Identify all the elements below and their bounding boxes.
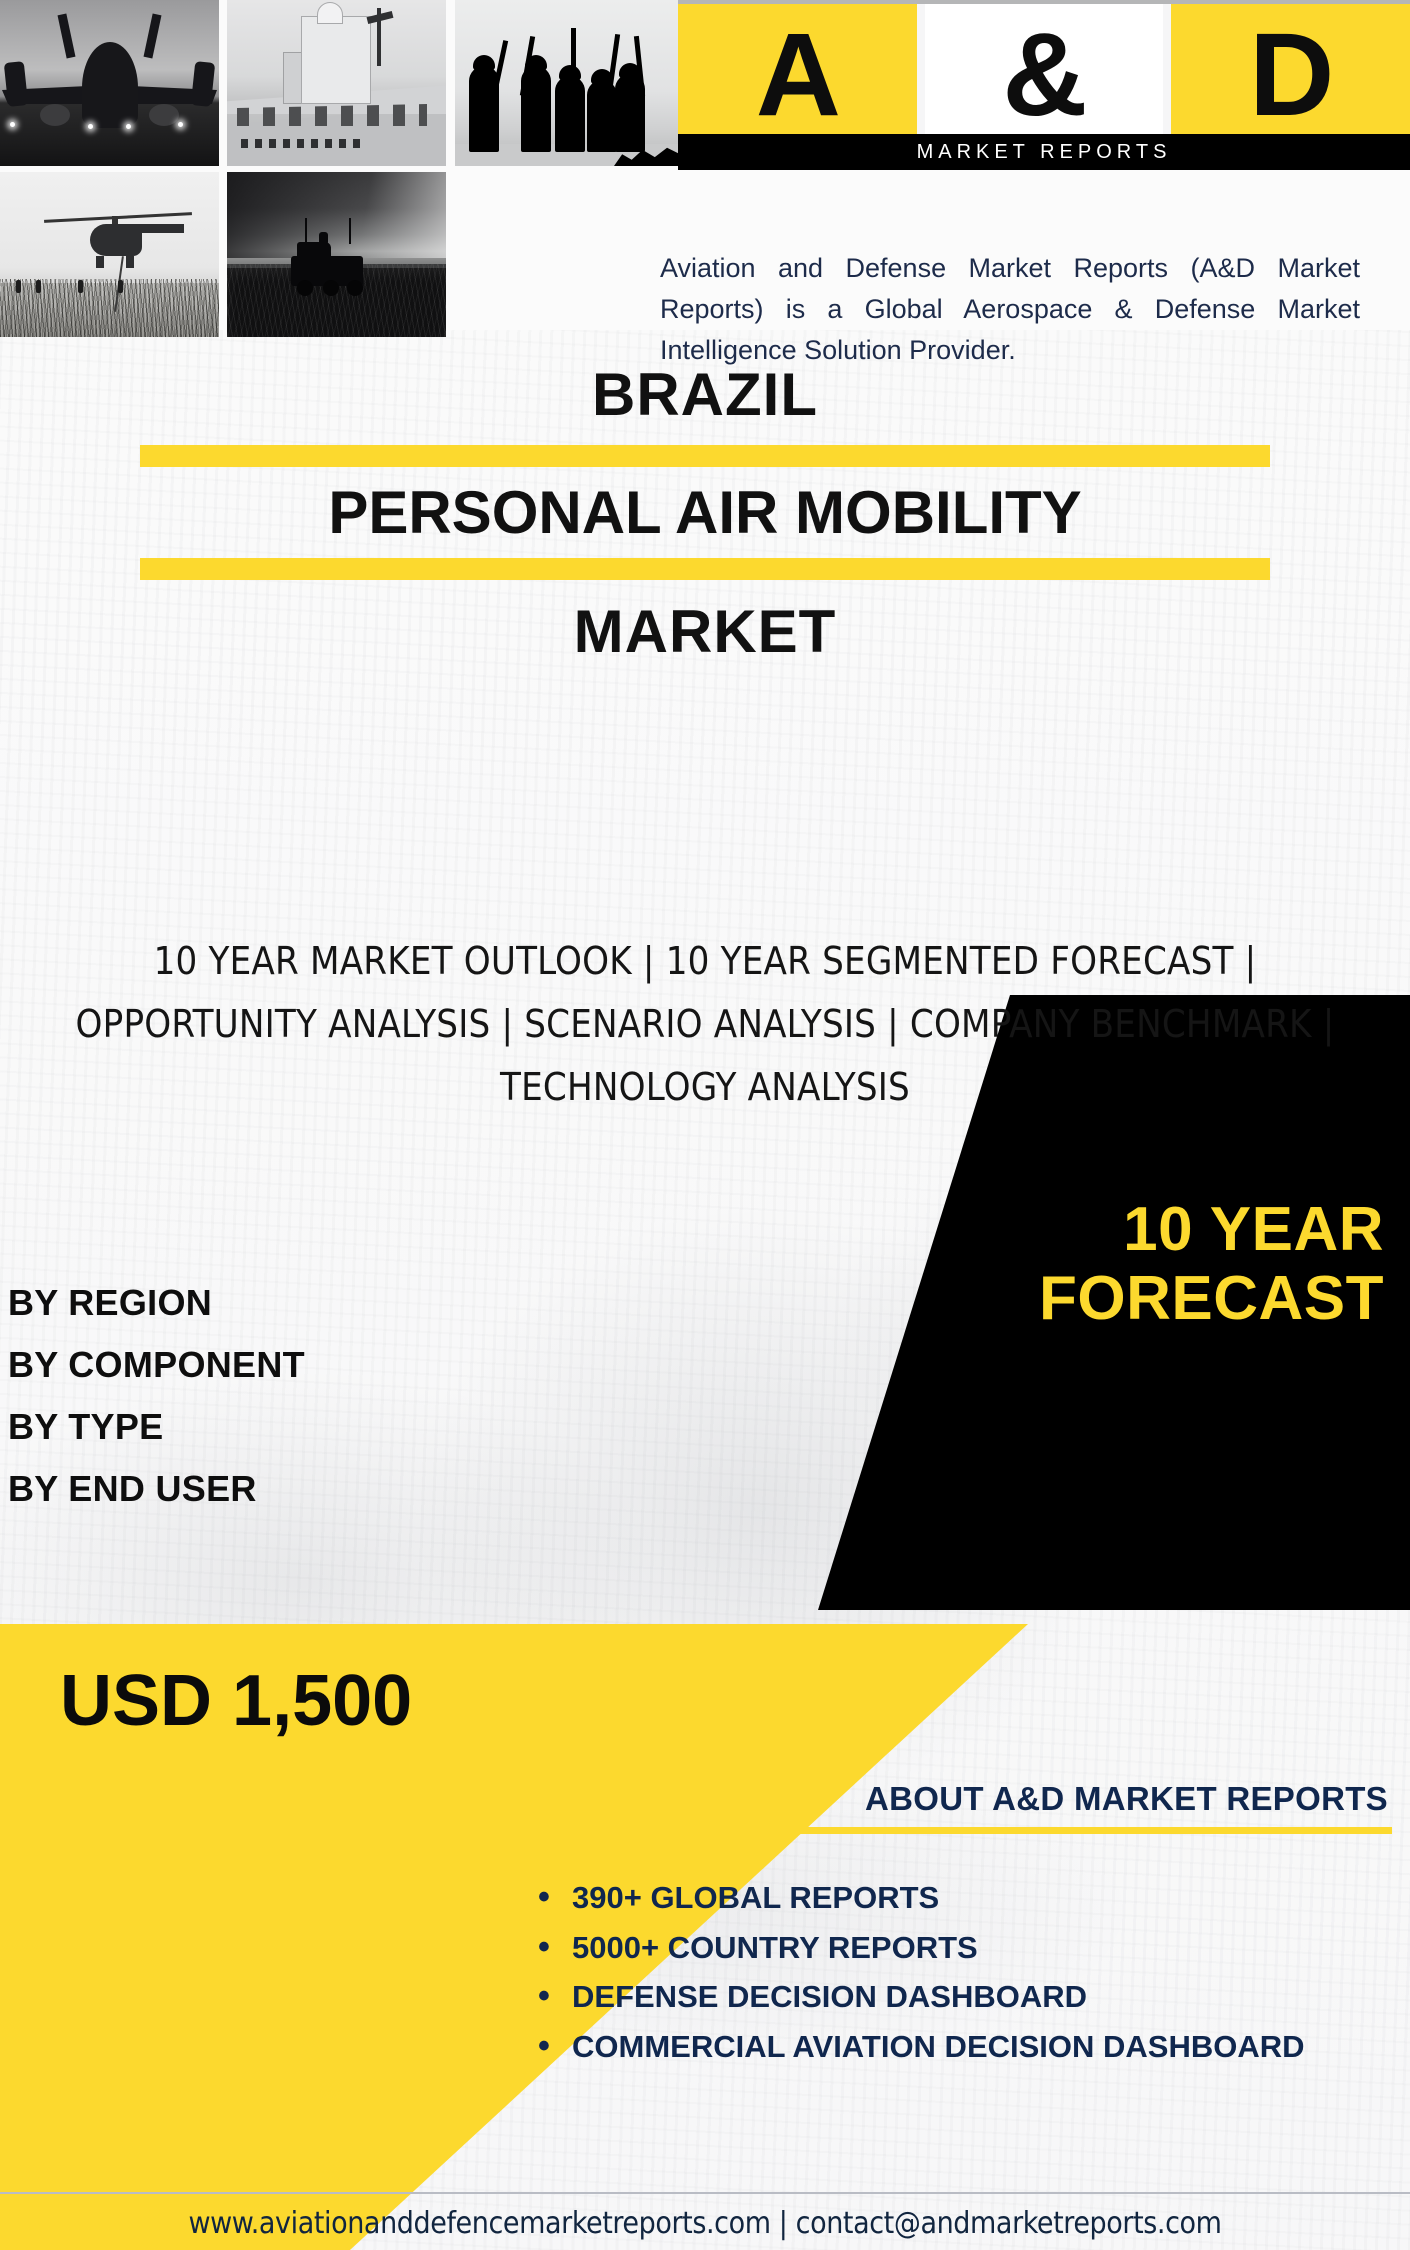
ship-hull-portholes (241, 139, 361, 148)
photo-armored-vehicle (227, 172, 446, 337)
about-heading-underline (480, 1827, 1392, 1834)
company-intro-paragraph: Aviation and Defense Market Reports (A&D… (660, 248, 1360, 371)
forecast-badge-line2: FORECAST (744, 1264, 1384, 1333)
photo-soldiers-silhouette (455, 0, 682, 166)
title-accent-bar-top (140, 445, 1270, 467)
segment-item-component: BY COMPONENT (8, 1334, 305, 1396)
soldier-silhouette (587, 80, 617, 152)
report-title-suffix: MARKET (0, 594, 1410, 669)
soldier-silhouette (555, 76, 585, 152)
report-title-main: PERSONAL AIR MOBILITY (0, 481, 1410, 544)
footer-contact[interactable]: www.aviationanddefencemarketreports.com … (0, 2196, 1410, 2250)
soldier-helmet (559, 65, 581, 80)
about-item-global-reports: 390+ GLOBAL REPORTS (538, 1878, 1392, 1918)
helicopter-tail-boom (132, 224, 184, 233)
ground-soldier (78, 280, 83, 293)
helicopter-main-rotor (44, 212, 192, 223)
footer-divider (0, 2192, 1410, 2194)
vehicle-wheel (347, 280, 363, 296)
about-heading: ABOUT A&D MARKET REPORTS (462, 1780, 1392, 1818)
photo-naval-warship (227, 0, 446, 166)
about-bullet-list: 390+ GLOBAL REPORTS 5000+ COUNTRY REPORT… (538, 1878, 1392, 2067)
jet-fin-right (144, 14, 162, 59)
logo-gap (917, 4, 925, 146)
brand-logo: A & D MARKET REPORTS (678, 0, 1410, 170)
about-item-defense-dashboard: DEFENSE DECISION DASHBOARD (538, 1977, 1392, 2017)
segment-item-end-user: BY END USER (8, 1458, 305, 1520)
vehicle-wheel (297, 280, 313, 296)
ground-soldier (16, 280, 21, 293)
deck-light (10, 122, 15, 127)
report-scope-subtitle: 10 YEAR MARKET OUTLOOK | 10 YEAR SEGMENT… (30, 930, 1380, 1119)
logo-tagline-bar: MARKET REPORTS (678, 134, 1410, 170)
deck-light (126, 124, 131, 129)
forecast-badge: 10 YEAR FORECAST (744, 1195, 1384, 1334)
title-accent-bar-bottom (140, 558, 1270, 580)
jet-wingtip-left (4, 61, 28, 107)
about-section: ABOUT A&D MARKET REPORTS 390+ GLOBAL REP… (462, 1780, 1392, 2077)
forecast-badge-line1: 10 YEAR (744, 1195, 1384, 1264)
logo-letter-d: D (1171, 4, 1410, 146)
report-country: BRAZIL (0, 360, 1410, 431)
vehicle-antenna (349, 218, 351, 244)
about-item-country-reports: 5000+ COUNTRY REPORTS (538, 1928, 1392, 1968)
deck-light (88, 124, 93, 129)
helicopter-landing-gear (96, 256, 104, 268)
logo-letter-ampersand: & (925, 4, 1164, 146)
price-value: USD 1,500 (60, 1660, 412, 1742)
vehicle-stormy-sky (227, 172, 446, 258)
vehicle-wheel (323, 280, 339, 296)
about-item-commercial-aviation-dashboard: COMMERCIAL AVIATION DECISION DASHBOARD (538, 2027, 1392, 2067)
deck-light (178, 122, 183, 127)
vehicle-antenna (305, 218, 307, 244)
ship-bridge-tower (301, 16, 371, 104)
jet-fin-left (58, 14, 76, 59)
report-title-block: BRAZIL PERSONAL AIR MOBILITY MARKET (0, 360, 1410, 669)
jet-pod-right (149, 104, 179, 126)
soldier-rifle (571, 28, 576, 92)
segment-item-region: BY REGION (8, 1272, 305, 1334)
jet-pod-left (40, 104, 70, 126)
logo-letter-row: A & D (678, 4, 1410, 146)
heli-field-texture (0, 279, 219, 337)
logo-letter-a: A (678, 4, 917, 146)
photo-fighter-jet-on-carrier-deck (0, 0, 219, 166)
photo-military-helicopter (0, 172, 219, 337)
ground-soldier (36, 280, 41, 293)
soldier-helmet (473, 55, 495, 70)
ship-radar-dome (317, 2, 343, 24)
jet-fuselage (82, 42, 138, 128)
ground-soldier (118, 280, 123, 293)
photo-strip (0, 0, 682, 337)
segmentation-list: BY REGION BY COMPONENT BY TYPE BY END US… (8, 1272, 305, 1520)
segment-item-type: BY TYPE (8, 1396, 305, 1458)
logo-tagline: MARKET REPORTS (917, 141, 1172, 164)
helicopter-landing-gear (126, 256, 134, 268)
logo-gap (1163, 4, 1171, 146)
